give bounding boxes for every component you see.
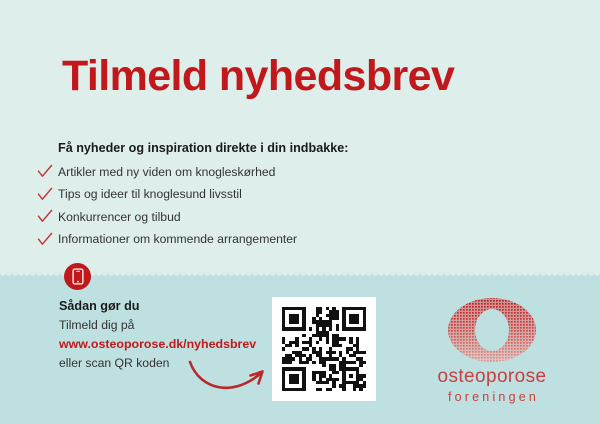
- list-item-label: Tips og ideer til knoglesund livsstil: [58, 187, 242, 201]
- list-item-label: Informationer om kommende arrangementer: [58, 232, 297, 246]
- howto-title: Sådan gør du: [59, 299, 289, 313]
- logo-subtext: foreningen: [445, 391, 539, 404]
- list-item-label: Konkurrencer og tilbud: [58, 210, 181, 224]
- howto-line-1: Tilmeld dig på: [59, 318, 289, 332]
- benefits-list: Artikler med ny viden om knogleskørhed T…: [33, 162, 453, 252]
- list-item: Informationer om kommende arrangementer: [33, 230, 453, 249]
- halftone-o-logo-icon: [445, 297, 539, 363]
- check-icon: [33, 232, 58, 247]
- curved-arrow-right-icon: [186, 356, 276, 402]
- logo-wordmark: osteoporose: [438, 367, 547, 386]
- page-title: Tilmeld nyhedsbrev: [62, 54, 454, 99]
- qr-code: [282, 307, 366, 391]
- check-icon: [33, 209, 58, 224]
- list-item-label: Artikler med ny viden om knogleskørhed: [58, 165, 275, 179]
- list-item: Artikler med ny viden om knogleskørhed: [33, 162, 453, 181]
- check-icon: [33, 164, 58, 179]
- organisation-logo: osteoporose foreningen: [424, 297, 560, 405]
- signup-url-link[interactable]: www.osteoporose.dk/nyhedsbrev: [59, 337, 289, 351]
- mobile-phone-icon: [64, 263, 91, 290]
- qr-code-panel: [272, 297, 376, 401]
- check-icon: [33, 187, 58, 202]
- list-item: Konkurrencer og tilbud: [33, 207, 453, 226]
- newsletter-signup-poster: Tilmeld nyhedsbrev Få nyheder og inspira…: [0, 0, 600, 424]
- intro-text: Få nyheder og inspiration direkte i din …: [58, 141, 348, 155]
- list-item: Tips og ideer til knoglesund livsstil: [33, 185, 453, 204]
